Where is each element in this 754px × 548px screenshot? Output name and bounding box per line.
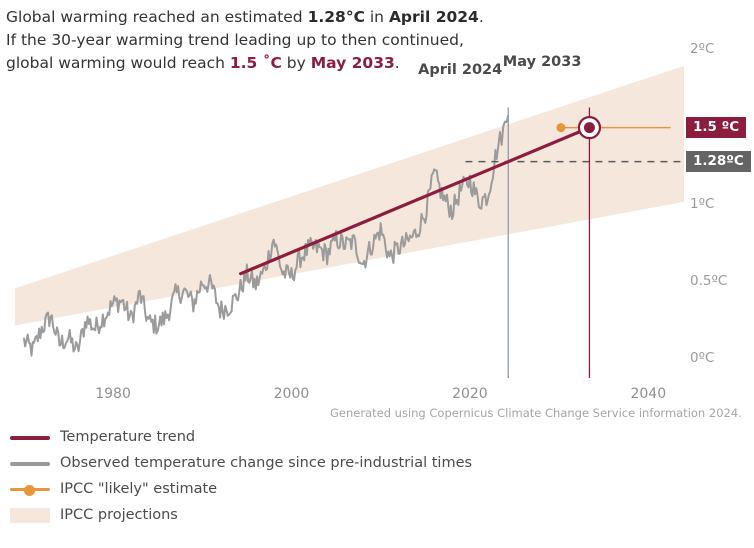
legend-item-label: Observed temperature change since pre-in… bbox=[60, 455, 472, 471]
annotation-april-2024: April 2024 bbox=[418, 62, 502, 78]
chart-page: Global warming reached an estimated 1.28… bbox=[0, 0, 754, 548]
y-axis-tick-label: 0.5ºC bbox=[690, 273, 727, 289]
annotation-may-2033: May 2033 bbox=[503, 54, 582, 70]
legend-item[interactable]: Observed temperature change since pre-in… bbox=[8, 450, 748, 476]
chart-credit: Generated using Copernicus Climate Chang… bbox=[330, 406, 742, 420]
legend-swatch-projections-icon bbox=[8, 505, 52, 525]
value-pill-target: 1.5 ºC bbox=[686, 117, 746, 138]
may-2033-marker-dot bbox=[584, 122, 595, 133]
headline-text: in bbox=[365, 8, 389, 26]
legend-item-label: Temperature trend bbox=[60, 429, 195, 445]
chart-legend: Temperature trendObserved temperature ch… bbox=[8, 424, 748, 528]
legend-item[interactable]: Temperature trend bbox=[8, 424, 748, 450]
legend-swatch-ipcc-estimate-icon bbox=[8, 479, 52, 499]
legend-item-label: IPCC projections bbox=[60, 507, 178, 523]
ipcc-likely-estimate-dot bbox=[556, 123, 565, 132]
y-axis-tick-label: 2ºC bbox=[690, 41, 714, 57]
headline-date-current: April 2024 bbox=[389, 8, 479, 26]
headline-line-1: Global warming reached an estimated 1.28… bbox=[6, 6, 706, 29]
x-axis-tick-label: 1980 bbox=[95, 386, 131, 402]
legend-swatch-observed-icon bbox=[8, 453, 52, 473]
ipcc-projection-band bbox=[15, 66, 684, 326]
legend-item[interactable]: IPCC projections bbox=[8, 502, 748, 528]
temperature-chart: 0ºC0.5ºC1ºC1.5ºC2ºC 1980200020202040 Apr… bbox=[0, 38, 754, 420]
y-axis-tick-label: 1ºC bbox=[690, 196, 714, 212]
headline-value-current: 1.28°C bbox=[308, 8, 365, 26]
value-pill-current: 1.28ºC bbox=[686, 151, 751, 172]
headline-text: Global warming reached an estimated bbox=[6, 8, 308, 26]
plot-svg bbox=[6, 38, 684, 378]
headline-text: . bbox=[479, 8, 484, 26]
x-axis-tick-label: 2020 bbox=[452, 386, 488, 402]
legend-swatch-trend-icon bbox=[8, 427, 52, 447]
x-axis-tick-label: 2000 bbox=[274, 386, 310, 402]
legend-item[interactable]: IPCC "likely" estimate bbox=[8, 476, 748, 502]
y-axis-tick-label: 0ºC bbox=[690, 350, 714, 366]
legend-item-label: IPCC "likely" estimate bbox=[60, 481, 217, 497]
plot-area bbox=[6, 38, 684, 378]
x-axis-tick-label: 2040 bbox=[630, 386, 666, 402]
